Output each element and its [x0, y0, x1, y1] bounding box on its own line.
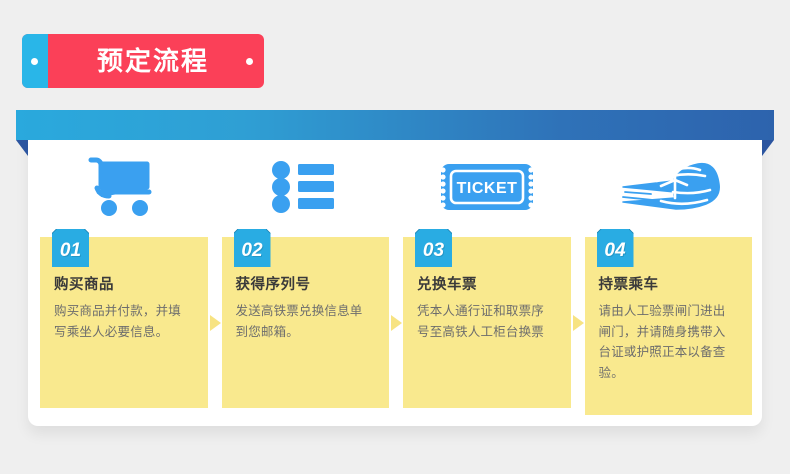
step-arrow-icon	[210, 315, 221, 331]
ticket-icon: TICKET	[441, 163, 533, 211]
banner-dot-right-icon	[246, 58, 253, 65]
step-number-badge: 02	[234, 229, 271, 267]
icon-cell-3: TICKET	[395, 146, 579, 228]
icon-cell-2	[212, 146, 396, 228]
step-description: 请由人工验票闸门进出闸门，并请随身携带入台证或护照正本以备查验。	[599, 301, 739, 384]
ribbon-fold-left	[16, 140, 28, 156]
step-card-1[interactable]: 01 购买商品 购买商品并付款，并填写乘坐人必要信息。	[40, 237, 208, 408]
step-title: 购买商品	[54, 273, 194, 294]
shopping-cart-icon	[83, 154, 157, 220]
banner-dot-left-icon	[31, 58, 38, 65]
step-number-badge: 04	[597, 229, 634, 267]
banner-left-tab	[22, 34, 48, 88]
steps-row: 01 购买商品 购买商品并付款，并填写乘坐人必要信息。 02 获得序列号 发送高…	[40, 237, 752, 415]
ribbon-bar	[16, 110, 774, 140]
step-card-2[interactable]: 02 获得序列号 发送高铁票兑换信息单到您邮箱。	[222, 237, 390, 408]
icon-cell-4	[579, 146, 763, 228]
step-title: 持票乘车	[599, 273, 739, 294]
page-title-banner: 预定流程	[22, 34, 264, 88]
step-title: 兑换车票	[417, 273, 557, 294]
icon-cell-1	[28, 146, 212, 228]
ribbon-header	[16, 110, 774, 146]
step-description: 购买商品并付款，并填写乘坐人必要信息。	[54, 301, 194, 342]
ribbon-fold-right	[762, 140, 774, 156]
ticket-icon-label: TICKET	[456, 180, 517, 197]
page-title: 预定流程	[48, 34, 264, 88]
step-arrow-icon	[391, 315, 402, 331]
list-icon	[272, 161, 334, 213]
step-title: 获得序列号	[236, 273, 376, 294]
step-card-4[interactable]: 04 持票乘车 请由人工验票闸门进出闸门，并请随身携带入台证或护照正本以备查验。	[585, 237, 753, 415]
step-description: 凭本人通行证和取票序号至高铁人工柜台换票	[417, 301, 557, 342]
step-arrow-icon	[573, 315, 584, 331]
step-number-badge: 03	[415, 229, 452, 267]
icon-row: TICKET	[28, 146, 762, 228]
high-speed-train-icon	[615, 158, 725, 216]
step-number-badge: 01	[52, 229, 89, 267]
step-description: 发送高铁票兑换信息单到您邮箱。	[236, 301, 376, 342]
step-card-3[interactable]: 03 兑换车票 凭本人通行证和取票序号至高铁人工柜台换票	[403, 237, 571, 408]
